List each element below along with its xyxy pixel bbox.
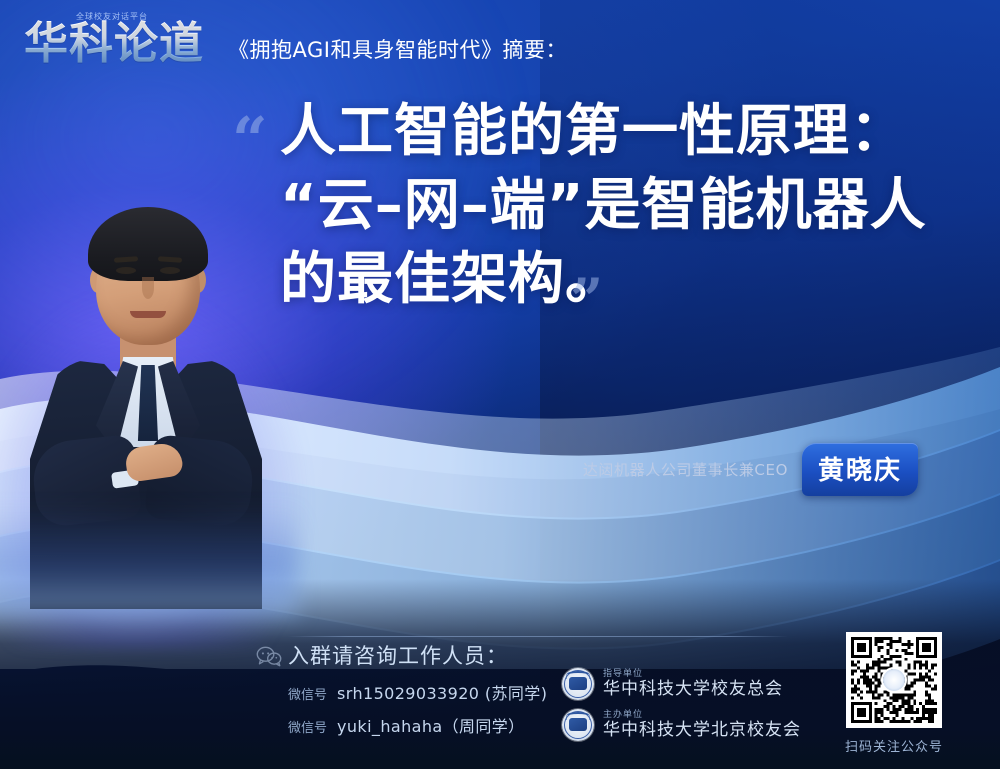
- hust-seal-icon: [562, 709, 594, 741]
- organization-text: 主办单位 华中科技大学北京校友会: [603, 710, 801, 741]
- organization-text: 指导单位 华中科技大学校友总会: [603, 669, 783, 700]
- organization-kicker: 主办单位: [603, 710, 801, 720]
- contact-heading: 入群请咨询工作人员：: [288, 640, 547, 670]
- quote-text: 人工智能的第一性原理： “云–网–端”是智能机器人 的最佳架构。: [280, 95, 944, 317]
- page-title: 《拥抱AGI和具身智能时代》摘要：: [228, 34, 567, 64]
- portrait-hair: [88, 207, 208, 281]
- portrait-bottom-fade: [0, 505, 298, 615]
- contact-wechat-id[interactable]: yuki_hahaha（周同学）: [337, 713, 525, 737]
- quote-line-2: “云–网–端”是智能机器人: [280, 169, 944, 243]
- organization-name: 华中科技大学北京校友会: [603, 721, 801, 741]
- quote-close-mark: ”: [570, 271, 603, 329]
- speaker-name-badge: 黄晓庆: [802, 443, 918, 496]
- wechat-icon: [256, 645, 282, 667]
- portrait-eye-left: [116, 267, 136, 274]
- contact-row: 微信号 yuki_hahaha（周同学）: [288, 713, 547, 737]
- brand-logo[interactable]: 全球校友对话平台 华科论道: [24, 8, 220, 70]
- speaker-title: 达闼机器人公司董事长兼CEO: [583, 459, 788, 480]
- quote-open-mark: “: [232, 109, 268, 171]
- quote-line-1: 人工智能的第一性原理：: [280, 95, 944, 169]
- hust-seal-icon: [562, 668, 594, 700]
- brand-wordmark: 华科论道: [24, 20, 204, 68]
- qr-block: 扫码关注公众号: [836, 632, 952, 755]
- organization-row: 主办单位 华中科技大学北京校友会: [562, 709, 801, 741]
- qr-caption: 扫码关注公众号: [836, 736, 952, 755]
- poster-canvas: 全球校友对话平台 华科论道 《拥抱AGI和具身智能时代》摘要： “ 人工智能的第…: [0, 0, 1000, 769]
- portrait-eye-right: [160, 267, 180, 274]
- qr-center-logo: [883, 669, 905, 691]
- header: 全球校友对话平台 华科论道 《拥抱AGI和具身智能时代》摘要：: [0, 0, 1000, 88]
- organization-name: 华中科技大学校友总会: [603, 680, 783, 700]
- contact-block: 入群请咨询工作人员： 微信号 srh15029033920 (苏同学) 微信号 …: [288, 640, 547, 737]
- contact-label: 微信号: [288, 717, 327, 736]
- portrait-nose: [142, 277, 154, 299]
- speaker-portrait: [8, 189, 268, 609]
- qr-code-icon[interactable]: [846, 632, 942, 728]
- speaker-attribution: 达闼机器人公司董事长兼CEO 黄晓庆: [583, 443, 918, 496]
- portrait-mouth: [130, 311, 166, 318]
- quote-line-3: 的最佳架构。: [280, 243, 944, 317]
- contact-wechat-id[interactable]: srh15029033920 (苏同学): [337, 680, 547, 704]
- contact-row: 微信号 srh15029033920 (苏同学): [288, 680, 547, 704]
- organization-kicker: 指导单位: [603, 669, 783, 679]
- footer-divider: [288, 636, 788, 637]
- contact-label: 微信号: [288, 684, 327, 703]
- organization-row: 指导单位 华中科技大学校友总会: [562, 668, 801, 700]
- organization-list: 指导单位 华中科技大学校友总会 主办单位 华中科技大学北京校友会: [562, 668, 801, 750]
